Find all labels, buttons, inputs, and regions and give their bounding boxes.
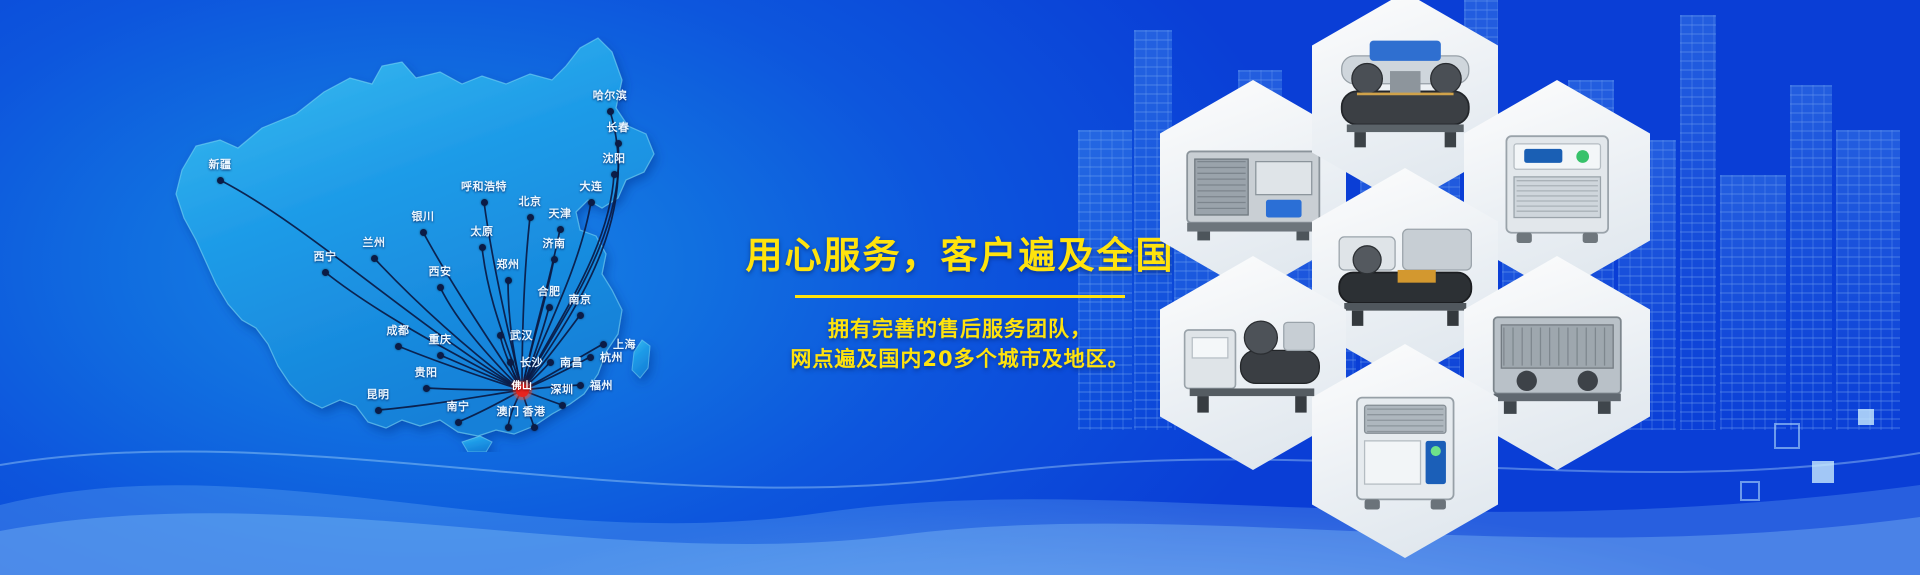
- city-label: 深圳: [551, 381, 574, 397]
- china-service-network-map: 中国服务网点分布图: [110, 22, 710, 452]
- city-dot-icon: [217, 177, 224, 184]
- city-label: 合肥: [538, 283, 561, 299]
- city-dot-icon: [559, 402, 566, 409]
- city-dot-icon: [607, 108, 614, 115]
- city-label: 南昌: [560, 354, 583, 370]
- city-dot-icon: [505, 424, 512, 431]
- city-dot-icon: [505, 277, 512, 284]
- city-dot-icon: [481, 199, 488, 206]
- city-dot-icon: [527, 214, 534, 221]
- city-dot-icon: [437, 284, 444, 291]
- subtitle: 拥有完善的售后服务团队， 网点遍及国内20多个城市及地区。: [745, 314, 1175, 375]
- city-dot-icon: [551, 256, 558, 263]
- city-label: 沈阳: [603, 150, 626, 166]
- city-dot-icon: [371, 255, 378, 262]
- city-dot-icon: [615, 140, 622, 147]
- city-label: 呼和浩特: [461, 178, 507, 194]
- divider-rule: [795, 295, 1125, 298]
- subtitle-line-1: 拥有完善的售后服务团队，: [745, 314, 1175, 344]
- city-dot-icon: [479, 244, 486, 251]
- city-label: 重庆: [429, 331, 452, 347]
- city-label: 昆明: [367, 386, 390, 402]
- city-dot-icon: [546, 304, 553, 311]
- headline: 用心服务，客户遍及全国: [745, 236, 1175, 277]
- city-label: 福州: [590, 377, 613, 393]
- banner-copy: 用心服务，客户遍及全国 拥有完善的售后服务团队， 网点遍及国内20多个城市及地区…: [745, 236, 1175, 375]
- city-label: 银川: [412, 208, 435, 224]
- city-label: 长沙: [520, 354, 543, 370]
- city-label: 南京: [569, 291, 592, 307]
- city-label: 郑州: [497, 256, 520, 272]
- city-label: 太原: [471, 223, 494, 239]
- city-label: 西宁: [314, 248, 337, 264]
- city-label: 北京: [519, 193, 542, 209]
- city-label: 济南: [543, 235, 566, 251]
- subtitle-line-2: 网点遍及国内20多个城市及地区。: [745, 344, 1175, 374]
- city-dot-icon: [547, 359, 554, 366]
- mainland-landmass: [176, 38, 654, 452]
- city-label: 长春: [607, 119, 630, 135]
- city-dot-icon: [507, 359, 514, 366]
- city-dot-icon: [420, 229, 427, 236]
- city-label: 成都: [387, 322, 410, 338]
- city-dot-icon: [557, 226, 564, 233]
- city-label: 杭州: [600, 349, 623, 365]
- promo-banner: 中国服务网点分布图: [0, 0, 1920, 575]
- city-dot-icon: [455, 419, 462, 426]
- city-label: 西安: [429, 263, 452, 279]
- product-hex-gallery: 工业冷水机产品展示 风冷箱式冷水机 水冷螺杆冷水机 一体式风冷冷: [1160, 0, 1920, 575]
- city-dot-icon: [395, 343, 402, 350]
- city-label: 香港: [523, 403, 546, 419]
- city-label: 兰州: [363, 234, 386, 250]
- city-dot-icon: [611, 171, 618, 178]
- city-label: 澳门: [497, 403, 520, 419]
- hub-label: 佛山: [512, 377, 533, 392]
- city-label: 武汉: [510, 327, 533, 343]
- city-dot-icon: [322, 269, 329, 276]
- city-dot-icon: [600, 341, 607, 348]
- city-dot-icon: [375, 407, 382, 414]
- city-dot-icon: [497, 332, 504, 339]
- city-label: 新疆: [209, 156, 232, 172]
- city-dot-icon: [577, 382, 584, 389]
- city-dot-icon: [531, 424, 538, 431]
- city-label: 大连: [580, 178, 603, 194]
- city-label: 南宁: [447, 398, 470, 414]
- city-label: 贵阳: [415, 364, 438, 380]
- city-dot-icon: [577, 312, 584, 319]
- city-label: 天津: [549, 205, 572, 221]
- city-label: 哈尔滨: [593, 87, 628, 103]
- city-dot-icon: [437, 352, 444, 359]
- city-dot-icon: [423, 385, 430, 392]
- city-dot-icon: [588, 199, 595, 206]
- city-dot-icon: [587, 354, 594, 361]
